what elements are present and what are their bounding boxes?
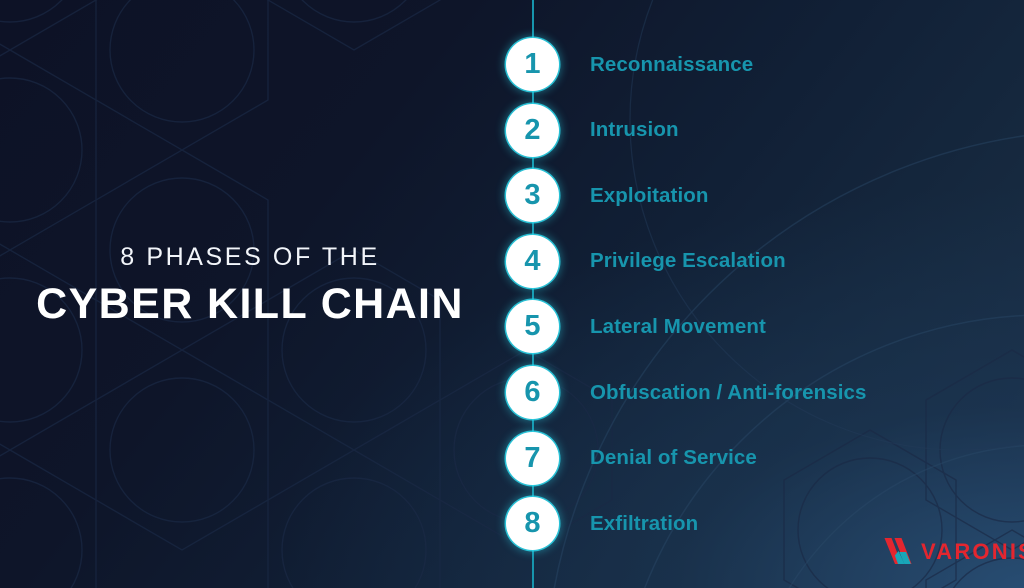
- phase-number-badge: 3: [506, 169, 559, 222]
- phase-number-badge: 6: [506, 366, 559, 419]
- phase-item-6[interactable]: 6Obfuscation / Anti-forensics: [506, 366, 1024, 419]
- phase-number-badge: 1: [506, 38, 559, 91]
- varonis-wordmark: VARONIS: [921, 541, 1024, 563]
- phase-item-7[interactable]: 7Denial of Service: [506, 432, 1024, 485]
- infographic-canvas: 8 Phases of the Cyber Kill Chain 1Reconn…: [0, 0, 1024, 588]
- phase-label: Intrusion: [590, 118, 679, 142]
- phase-label: Denial of Service: [590, 446, 757, 470]
- phase-label: Lateral Movement: [590, 315, 766, 339]
- phase-item-4[interactable]: 4Privilege Escalation: [506, 235, 1024, 288]
- phase-number-badge: 8: [506, 497, 559, 550]
- phase-number-badge: 2: [506, 104, 559, 157]
- phase-item-1[interactable]: 1Reconnaissance: [506, 38, 1024, 91]
- title-eyebrow: 8 Phases of the: [0, 243, 500, 272]
- phase-label: Reconnaissance: [590, 53, 753, 77]
- phase-item-5[interactable]: 5Lateral Movement: [506, 300, 1024, 353]
- phase-label: Obfuscation / Anti-forensics: [590, 381, 867, 405]
- varonis-logo[interactable]: VARONIS: [884, 538, 1024, 565]
- phase-item-3[interactable]: 3Exploitation: [506, 169, 1024, 222]
- phase-number-badge: 5: [506, 300, 559, 353]
- phase-item-2[interactable]: 2Intrusion: [506, 104, 1024, 157]
- varonis-chevron-icon: [884, 538, 914, 565]
- page-title: Cyber Kill Chain: [0, 278, 500, 330]
- phase-number-badge: 7: [506, 432, 559, 485]
- phase-number-badge: 4: [506, 235, 559, 288]
- phase-label: Exploitation: [590, 184, 709, 208]
- phase-label: Privilege Escalation: [590, 249, 786, 273]
- phase-timeline: 1Reconnaissance2Intrusion3Exploitation4P…: [506, 0, 1024, 588]
- title-block: 8 Phases of the Cyber Kill Chain: [0, 243, 500, 330]
- phase-label: Exfiltration: [590, 512, 698, 536]
